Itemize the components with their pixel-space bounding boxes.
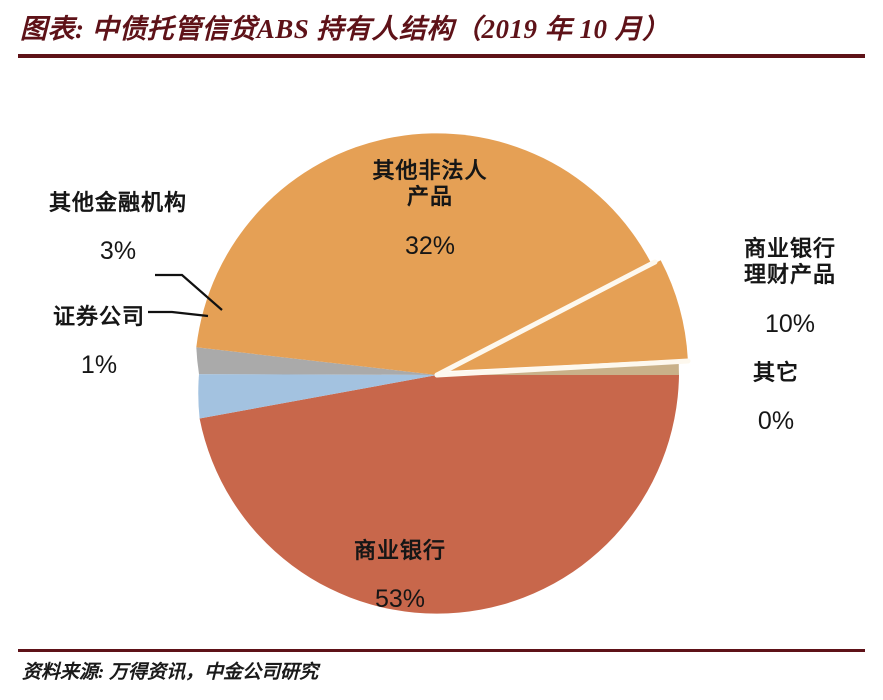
pie-label-securities-name: 证券公司	[14, 304, 184, 331]
pie-label-other-financial-name: 其他金融机构	[28, 190, 208, 217]
source-note: 资料来源: 万得资讯，中金公司研究	[22, 660, 318, 686]
page-title: 图表: 中债托管信贷ABS 持有人结构（2019 年 10 月）	[20, 12, 860, 46]
pie-label-wealth-product: 商业银行 理财产品 10%	[700, 216, 880, 359]
pie-label-commercial-bank-name: 商业银行	[300, 538, 500, 565]
pie-label-others-value: 0%	[706, 406, 846, 437]
pie-label-securities: 证券公司 1%	[14, 284, 184, 400]
footer-divider	[18, 649, 865, 652]
pie-label-non-legal-product-value: 32%	[330, 231, 530, 262]
pie-label-wealth-product-value: 10%	[700, 309, 880, 340]
pie-label-commercial-bank-value: 53%	[300, 584, 500, 615]
pie-label-other-financial-value: 3%	[28, 236, 208, 267]
pie-label-other-financial: 其他金融机构 3%	[28, 170, 208, 286]
pie-label-wealth-product-name: 商业银行 理财产品	[700, 236, 880, 290]
chart-page: 图表: 中债托管信贷ABS 持有人结构（2019 年 10 月）	[0, 0, 883, 700]
title-divider	[18, 54, 865, 58]
pie-label-non-legal-product: 其他非法人 产品 32%	[330, 138, 530, 281]
pie-label-commercial-bank: 商业银行 53%	[300, 518, 500, 634]
pie-label-securities-value: 1%	[14, 350, 184, 381]
pie-label-others-name: 其它	[706, 360, 846, 387]
pie-label-others: 其它 0%	[706, 340, 846, 456]
pie-label-non-legal-product-name: 其他非法人 产品	[330, 158, 530, 212]
